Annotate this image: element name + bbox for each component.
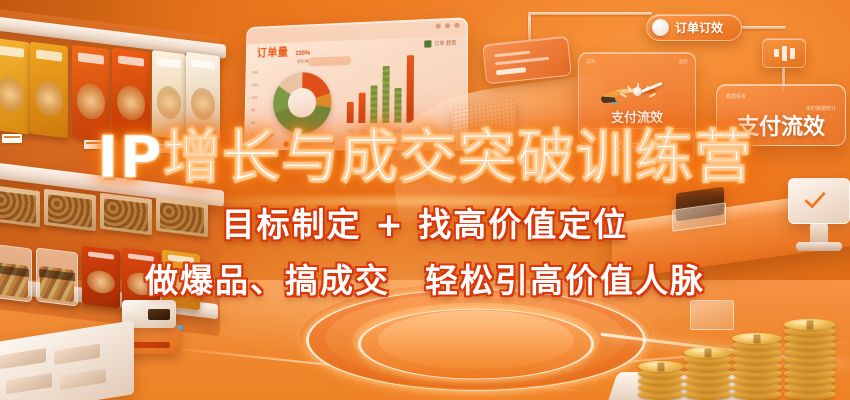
order-efficiency-badge[interactable]: 订单订效 <box>646 14 742 41</box>
promo-banner: 订单量 订单 趋势 200 160 120 80 40 0 235% 转化率 本… <box>0 0 850 400</box>
badge-knob-icon <box>652 19 669 36</box>
snack-package <box>30 42 68 139</box>
glass-pedestal-lower <box>690 300 734 330</box>
bar <box>347 102 354 123</box>
coin-top <box>638 361 684 372</box>
coin-top <box>684 347 732 358</box>
bar <box>382 66 390 123</box>
widget-bar <box>774 49 779 57</box>
widget-bar <box>782 46 787 61</box>
window-controls[interactable] <box>436 23 460 29</box>
coin-stack <box>732 314 782 400</box>
tray-slot <box>54 344 100 365</box>
y-tick: 120 <box>251 95 257 100</box>
subtitle-line-1: 目标制定 + 找高价值定位 <box>0 198 850 246</box>
banner-text-block: IP增长与成交突破训练营 目标制定 + 找高价值定位 做爆品、搞成交 轻松引高价… <box>0 128 850 302</box>
y-tick: 200 <box>252 70 258 75</box>
mini-bar-widget[interactable] <box>762 38 806 68</box>
gauge-mini-topleft: 实时 <box>586 59 595 65</box>
tag-line <box>495 57 549 66</box>
coin-top <box>784 319 836 330</box>
coin-stack <box>638 348 684 400</box>
sign-mini-topleft: 数据看板 <box>726 93 746 100</box>
coin-stack <box>684 330 732 400</box>
connector-wire <box>740 26 786 29</box>
tray-slot <box>6 373 52 394</box>
podium-ring <box>378 311 574 370</box>
tray-slot <box>0 348 46 369</box>
y-tick: 80 <box>251 107 257 112</box>
y-tick: 160 <box>252 82 258 87</box>
widget-bar <box>790 48 795 59</box>
tray-slot <box>60 369 106 390</box>
connector-wire <box>528 12 652 15</box>
tag-line <box>494 51 530 58</box>
gauge-hub <box>633 87 642 96</box>
terminal-indicator-icon <box>178 325 183 330</box>
gauge-mini-topright: 监控 <box>679 59 688 65</box>
tag-line <box>496 67 526 75</box>
bar <box>394 88 401 122</box>
page-title: IP增长与成交突破训练营 <box>0 128 850 186</box>
coin-top <box>732 333 782 344</box>
bar <box>406 56 414 123</box>
bar <box>370 86 377 123</box>
snack-package <box>0 38 30 135</box>
terminal-screen <box>148 309 170 320</box>
badge-label: 订单订效 <box>675 19 723 36</box>
bar <box>358 93 365 123</box>
subtitle-line-2: 做爆品、搞成交 轻松引高价值人脉 <box>0 254 850 302</box>
coin-stack <box>784 296 836 400</box>
